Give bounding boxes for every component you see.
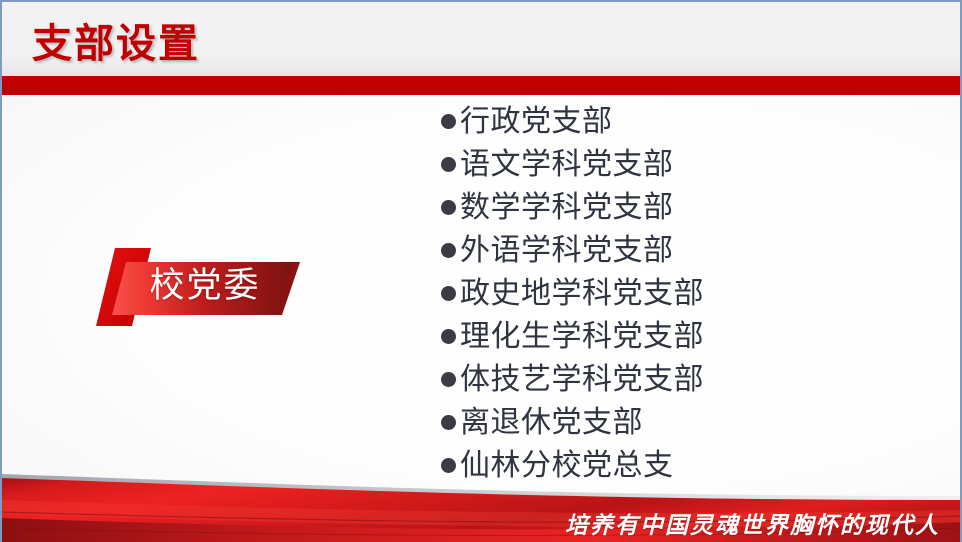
list-item: 体技艺学科党支部 <box>441 358 911 401</box>
list-item: 行政党支部 <box>441 100 911 143</box>
bullet-dot-icon <box>441 329 456 344</box>
list-item-label: 数学学科党支部 <box>460 193 674 223</box>
bullet-dot-icon <box>441 114 456 129</box>
list-item-label: 理化生学科党支部 <box>460 322 704 352</box>
list-item: 外语学科党支部 <box>441 229 911 272</box>
branch-list: 行政党支部 语文学科党支部 数学学科党支部 外语学科党支部 政史地学科党支部 理… <box>441 100 911 487</box>
list-item: 数学学科党支部 <box>441 186 911 229</box>
presentation-slide: 支部设置 校党委 <box>0 0 962 542</box>
list-item: 理化生学科党支部 <box>441 315 911 358</box>
list-item-label: 体技艺学科党支部 <box>460 365 704 395</box>
slide-header-band: 支部设置 <box>2 2 960 76</box>
list-item-label: 外语学科党支部 <box>460 236 674 266</box>
list-item-label: 离退休党支部 <box>460 408 643 438</box>
bullet-dot-icon <box>441 372 456 387</box>
bullet-dot-icon <box>441 157 456 172</box>
list-item: 离退休党支部 <box>441 401 911 444</box>
bullet-dot-icon <box>441 243 456 258</box>
bullet-dot-icon <box>441 200 456 215</box>
title-divider-rule <box>2 76 960 95</box>
footer-motto: 培养有中国灵魂世界胸怀的现代人 <box>565 514 940 537</box>
list-item: 语文学科党支部 <box>441 143 911 186</box>
banner-label: 校党委 <box>130 261 280 309</box>
page-title: 支部设置 <box>32 24 200 64</box>
list-item-label: 语文学科党支部 <box>460 150 674 180</box>
list-item: 政史地学科党支部 <box>441 272 911 315</box>
school-party-committee-banner: 校党委 <box>96 247 311 327</box>
bullet-dot-icon <box>441 415 456 430</box>
list-item-label: 行政党支部 <box>460 107 613 137</box>
list-item-label: 政史地学科党支部 <box>460 279 704 309</box>
bullet-dot-icon <box>441 286 456 301</box>
